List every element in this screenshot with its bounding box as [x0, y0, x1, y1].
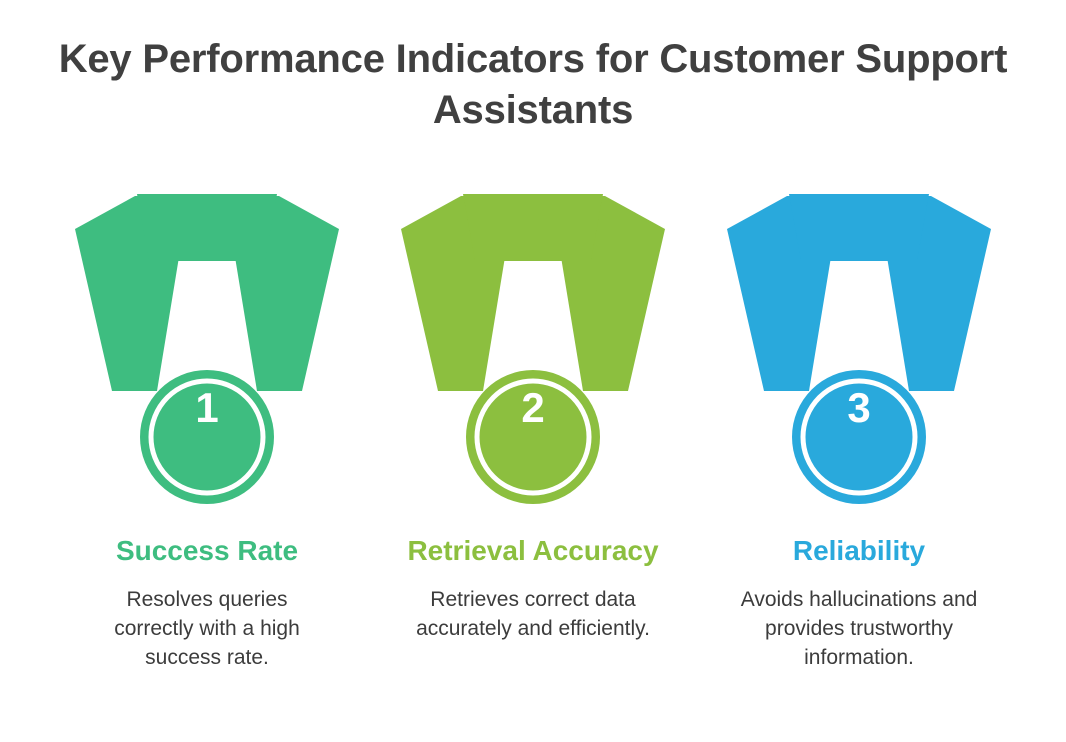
medal-ribbon-group: [727, 194, 991, 391]
medal-icon: 1: [57, 185, 357, 515]
medal-ribbon-top-bar: [789, 194, 929, 261]
medal-disc-outer: [466, 370, 600, 504]
kpi-column-3: 3 Reliability Avoids hallucinations and …: [696, 185, 1022, 673]
medal-disc-outer: [140, 370, 274, 504]
kpi-description-2: Retrieves correct data accurately and ef…: [411, 586, 655, 644]
kpi-description-1: Resolves queries correctly with a high s…: [91, 586, 323, 673]
medal-ribbon-group: [75, 194, 339, 391]
medal-disc-outer: [792, 370, 926, 504]
medal-ribbon-top-bar: [137, 194, 277, 261]
medal-icon: 2: [383, 185, 683, 515]
page-title-line-1: Key Performance Indicators for Customer …: [59, 37, 1008, 81]
kpi-heading-1: Success Rate: [77, 531, 337, 572]
page-title: Key Performance Indicators for Customer …: [33, 34, 1033, 136]
kpi-columns: 1 Success Rate Resolves queries correctl…: [0, 185, 1066, 673]
page-title-line-2: Assistants: [433, 88, 633, 132]
kpi-column-1: 1 Success Rate Resolves queries correctl…: [44, 185, 370, 673]
infographic-slide: Key Performance Indicators for Customer …: [0, 0, 1066, 742]
kpi-heading-2: Retrieval Accuracy: [403, 531, 663, 572]
kpi-heading-3: Reliability: [729, 531, 989, 572]
kpi-column-2: 2 Retrieval Accuracy Retrieves correct d…: [370, 185, 696, 644]
medal-ribbon-top-bar: [463, 194, 603, 261]
medal-ribbon-group: [401, 194, 665, 391]
medal-icon: 3: [709, 185, 1009, 515]
kpi-description-3: Avoids hallucinations and provides trust…: [724, 586, 994, 673]
